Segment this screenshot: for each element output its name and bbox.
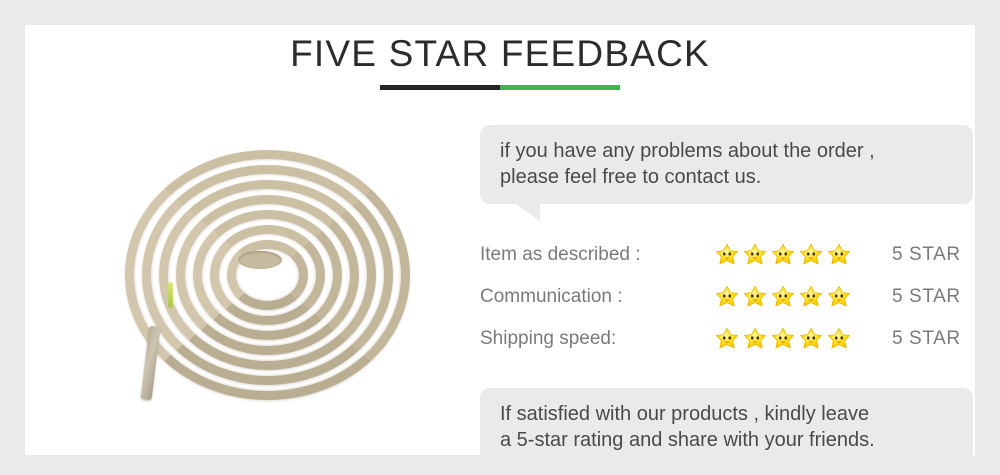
product-photo xyxy=(80,125,450,425)
star-face-icon xyxy=(799,243,823,267)
star-face-icon xyxy=(771,285,795,309)
rating-value: 5 STAR xyxy=(892,244,961,266)
star-face-icon xyxy=(743,327,767,351)
title-underline xyxy=(380,85,620,90)
title-underline-dark-segment xyxy=(380,85,500,90)
shoelace-coil-image xyxy=(125,150,410,400)
rating-row-item-as-described: Item as described : 5 STAR xyxy=(480,234,975,276)
star-face-icon xyxy=(827,285,851,309)
rating-label: Item as described : xyxy=(480,244,715,266)
feedback-column: if you have any problems about the order… xyxy=(480,125,975,467)
lace-coil-center xyxy=(238,251,282,269)
review-request-line-2: a 5-star rating and share with your frie… xyxy=(500,427,953,453)
review-request-bubble: If satisfied with our products , kindly … xyxy=(480,388,973,467)
contact-message-bubble: if you have any problems about the order… xyxy=(480,125,973,204)
title-underline-green-segment xyxy=(500,85,620,90)
star-face-icon xyxy=(715,243,739,267)
contact-message-line-1: if you have any problems about the order… xyxy=(500,138,953,164)
feedback-banner: FIVE STAR FEEDBACK xyxy=(0,0,1000,475)
rating-label: Shipping speed: xyxy=(480,328,715,350)
star-face-icon xyxy=(771,327,795,351)
star-face-icon xyxy=(799,285,823,309)
content-panel: FIVE STAR FEEDBACK xyxy=(25,25,975,455)
header: FIVE STAR FEEDBACK xyxy=(25,25,975,90)
rating-row-shipping-speed: Shipping speed: 5 STAR xyxy=(480,318,975,360)
rating-value: 5 STAR xyxy=(892,286,961,308)
star-rating-group xyxy=(715,285,860,309)
star-face-icon xyxy=(743,285,767,309)
contact-message-line-2: please feel free to contact us. xyxy=(500,164,953,190)
review-request-line-1: If satisfied with our products , kindly … xyxy=(500,401,953,427)
star-face-icon xyxy=(715,327,739,351)
star-face-icon xyxy=(799,327,823,351)
lace-ring-7 xyxy=(227,240,308,310)
star-rating-group xyxy=(715,327,860,351)
green-lace-sliver xyxy=(168,282,173,308)
star-face-icon xyxy=(827,327,851,351)
rating-row-communication: Communication : 5 STAR xyxy=(480,276,975,318)
page-title: FIVE STAR FEEDBACK xyxy=(25,25,975,77)
star-face-icon xyxy=(743,243,767,267)
star-face-icon xyxy=(827,243,851,267)
rating-label: Communication : xyxy=(480,286,715,308)
star-face-icon xyxy=(715,285,739,309)
rating-value: 5 STAR xyxy=(892,328,961,350)
star-rating-group xyxy=(715,243,860,267)
rating-list: Item as described : 5 STAR Communication… xyxy=(480,234,975,360)
star-face-icon xyxy=(771,243,795,267)
